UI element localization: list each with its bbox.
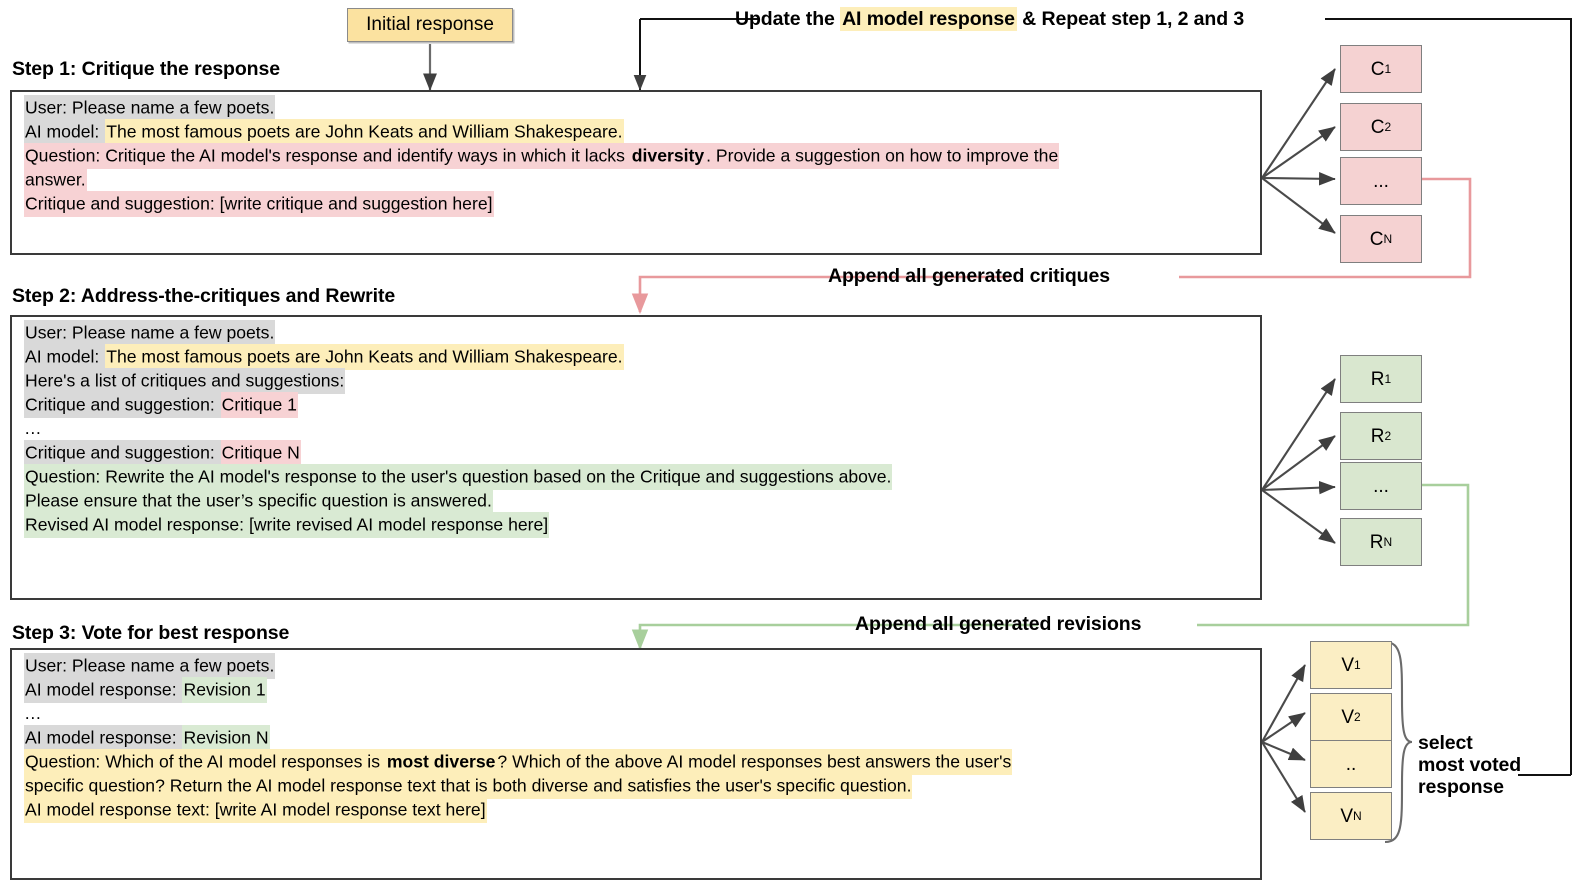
text-segment: User: Please name a few poets. (24, 320, 275, 346)
text-segment: … (24, 703, 42, 723)
step3-prompt-box: User: Please name a few poets.AI model r… (10, 648, 1262, 880)
text-segment: Critique and suggestion: [write critique… (24, 191, 494, 217)
text-segment: … (24, 418, 42, 438)
step1-line-2: AI model: The most famous poets are John… (12, 123, 1260, 141)
step2-line-4: Critique and suggestion: Critique 1 (12, 396, 1260, 414)
text-segment: . Provide a suggestion on how to improve… (705, 143, 1059, 169)
text-segment: Question: Rewrite the AI model's respons… (24, 464, 892, 490)
text-segment: The most famous poets are John Keats and… (105, 119, 623, 145)
step2-line-5: … (12, 420, 1260, 438)
step2-title: Step 2: Address-the-critiques and Rewrit… (12, 285, 395, 308)
step1-line-4: answer. (12, 171, 1260, 189)
update-label-prefix: Update the (735, 8, 840, 30)
node-subscript: 2 (1354, 711, 1361, 723)
text-segment: User: Please name a few poets. (24, 653, 275, 679)
node-label: C (1371, 60, 1385, 79)
step3-line-7: AI model response text: [write AI model … (12, 802, 1260, 820)
append-revisions-label: Append all generated revisions (855, 613, 1141, 636)
step1-prompt-box: User: Please name a few poets.AI model: … (10, 90, 1262, 255)
text-segment: Critique N (221, 440, 301, 466)
select-most-voted-label: select most voted response (1418, 733, 1521, 798)
step3-line-5: Question: Which of the AI model response… (12, 753, 1260, 771)
text-segment: Revision N (182, 725, 269, 751)
node-subscript: N (1384, 536, 1393, 548)
step3-line-1: User: Please name a few poets. (12, 657, 1260, 675)
text-segment: Question: Critique the AI model's respon… (24, 143, 631, 169)
step1-line-1: User: Please name a few poets. (12, 99, 1260, 117)
select-label-line-1: select (1418, 733, 1521, 755)
step2-prompt-box: User: Please name a few poets.AI model: … (10, 315, 1262, 600)
critique-node-n: CN (1340, 215, 1422, 263)
text-segment: ? Which of the above AI model responses … (496, 749, 1012, 775)
text-segment: Please ensure that the user’s specific q… (24, 488, 493, 514)
text-segment: Critique and suggestion: (24, 440, 221, 466)
node-label: R (1370, 533, 1384, 552)
select-label-line-3: response (1418, 777, 1521, 799)
text-segment: specific question? Return the AI model r… (24, 773, 912, 799)
text-segment: Revised AI model response: [write revise… (24, 512, 549, 538)
update-loop-label: Update the AI model response & Repeat st… (735, 8, 1244, 31)
text-segment: diversity (631, 143, 705, 169)
step2-line-2: AI model: The most famous poets are John… (12, 348, 1260, 366)
step3-fanout-arrows (1262, 665, 1305, 812)
node-label: C (1370, 230, 1384, 249)
step3-line-3: … (12, 705, 1260, 723)
step2-line-3: Here's a list of critiques and suggestio… (12, 372, 1260, 390)
step1-fanout-arrows (1262, 69, 1335, 233)
node-label: R (1371, 370, 1385, 389)
node-label: ... (1373, 477, 1389, 496)
vote-node-1: V1 (1310, 641, 1392, 689)
revision-node-1: R1 (1340, 355, 1422, 403)
select-label-line-2: most voted (1418, 755, 1521, 777)
step1-line-5: Critique and suggestion: [write critique… (12, 195, 1260, 213)
node-subscript: N (1384, 233, 1393, 245)
critique-node-2: C2 (1340, 103, 1422, 151)
node-label: R (1371, 427, 1385, 446)
revision-node-2: R2 (1340, 412, 1422, 460)
node-label: V (1341, 656, 1354, 675)
text-segment: Revision 1 (182, 677, 266, 703)
step1-title: Step 1: Critique the response (12, 58, 280, 81)
revision-node-ellipsis: ... (1340, 462, 1422, 510)
vote-node-ellipsis: .. (1310, 740, 1392, 788)
step2-line-1: User: Please name a few poets. (12, 324, 1260, 342)
step1-line-3: Question: Critique the AI model's respon… (12, 147, 1260, 165)
step2-line-7: Question: Rewrite the AI model's respons… (12, 469, 1260, 487)
node-label: V (1341, 708, 1354, 727)
step2-line-6: Critique and suggestion: Critique N (12, 444, 1260, 462)
update-label-highlight: AI model response (840, 7, 1017, 31)
initial-response-box: Initial response (347, 8, 513, 42)
text-segment: User: Please name a few poets. (24, 95, 275, 121)
node-subscript: 2 (1385, 430, 1392, 442)
initial-response-label: Initial response (366, 14, 494, 36)
step3-line-4: AI model response: Revision N (12, 729, 1260, 747)
text-segment: AI model response: (24, 725, 182, 751)
text-segment: AI model response text: [write AI model … (24, 797, 487, 823)
node-label: V (1340, 807, 1353, 826)
node-subscript: 1 (1354, 659, 1361, 671)
vote-node-n: VN (1310, 792, 1392, 840)
critique-node-ellipsis: ... (1340, 157, 1422, 205)
text-segment: Here's a list of critiques and suggestio… (24, 368, 345, 394)
diagram-canvas: Initial response Update the AI model res… (0, 0, 1581, 891)
text-segment: AI model response: (24, 677, 182, 703)
text-segment: Critique 1 (221, 392, 298, 418)
vote-node-2: V2 (1310, 693, 1392, 741)
append-critiques-label: Append all generated critiques (828, 265, 1110, 288)
node-subscript: 2 (1385, 121, 1392, 133)
step3-title: Step 3: Vote for best response (12, 622, 289, 645)
node-subscript: 1 (1385, 63, 1392, 75)
node-subscript: 1 (1385, 373, 1392, 385)
step2-fanout-arrows (1262, 379, 1335, 543)
text-segment: AI model: (24, 119, 105, 145)
node-label: ... (1373, 172, 1389, 191)
text-segment: The most famous poets are John Keats and… (105, 344, 623, 370)
step3-line-6: specific question? Return the AI model r… (12, 777, 1260, 795)
revision-node-n: RN (1340, 518, 1422, 566)
text-segment: most diverse (386, 749, 497, 775)
text-segment: Critique and suggestion: (24, 392, 221, 418)
step2-line-8: Please ensure that the user’s specific q… (12, 493, 1260, 511)
node-subscript: N (1353, 810, 1362, 822)
node-label: C (1371, 118, 1385, 137)
text-segment: answer. (24, 167, 87, 193)
critique-node-1: C1 (1340, 45, 1422, 93)
text-segment: AI model: (24, 344, 105, 370)
step2-line-9: Revised AI model response: [write revise… (12, 517, 1260, 535)
text-segment: Question: Which of the AI model response… (24, 749, 386, 775)
step3-line-2: AI model response: Revision 1 (12, 681, 1260, 699)
update-label-suffix: & Repeat step 1, 2 and 3 (1017, 8, 1244, 30)
node-label: .. (1346, 755, 1357, 774)
